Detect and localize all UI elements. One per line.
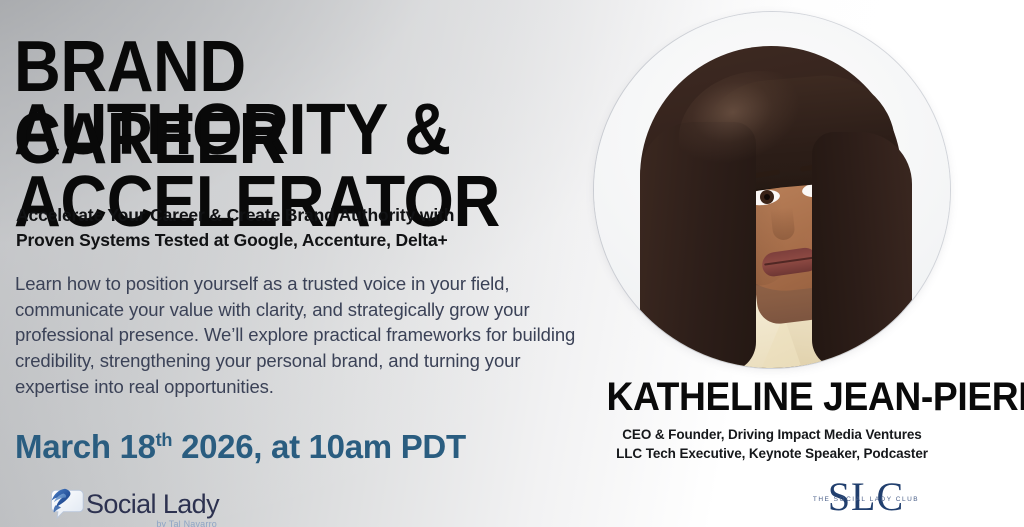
slc-club-logo: SLC THE SOCIAL LADY CLUB [806, 476, 926, 522]
speaker-portrait-photo [594, 12, 950, 368]
speaker-portrait-frame [594, 12, 950, 368]
event-date-month-day: March 18 [15, 428, 156, 465]
bird-speech-bubble-icon [46, 484, 84, 522]
event-date: March 18th 2026, at 10am PDT [15, 428, 466, 466]
speaker-role-line-1: CEO & Founder, Driving Impact Media Vent… [574, 425, 970, 444]
subtitle-line-1: Accelerate Your Career & Create Brand Au… [16, 203, 596, 228]
event-date-year-time: 2026, at 10am PDT [172, 428, 466, 465]
event-date-ordinal-suffix: th [156, 430, 173, 450]
social-lady-tagline: by Tal Navarro [156, 519, 217, 527]
promotional-poster: Brand Authority & Career Accelerator Acc… [0, 0, 1024, 527]
body-paragraph: Learn how to position yourself as a trus… [15, 271, 590, 400]
subtitle-line-2: Proven Systems Tested at Google, Accentu… [16, 228, 596, 253]
social-lady-logo: Social Lady by Tal Navarro [46, 484, 219, 522]
social-lady-wordmark: Social Lady by Tal Navarro [86, 489, 219, 518]
speaker-role: CEO & Founder, Driving Impact Media Vent… [574, 425, 970, 463]
left-content-column: Brand Authority & Career Accelerator Acc… [14, 0, 604, 527]
slc-tagline: THE SOCIAL LADY CLUB [806, 496, 926, 503]
speaker-name: Katheline Jean-Pierre [606, 377, 937, 417]
social-lady-name: Social Lady [86, 489, 219, 519]
speaker-role-line-2: LLC Tech Executive, Keynote Speaker, Pod… [574, 444, 970, 463]
subtitle: Accelerate Your Career & Create Brand Au… [16, 203, 596, 253]
